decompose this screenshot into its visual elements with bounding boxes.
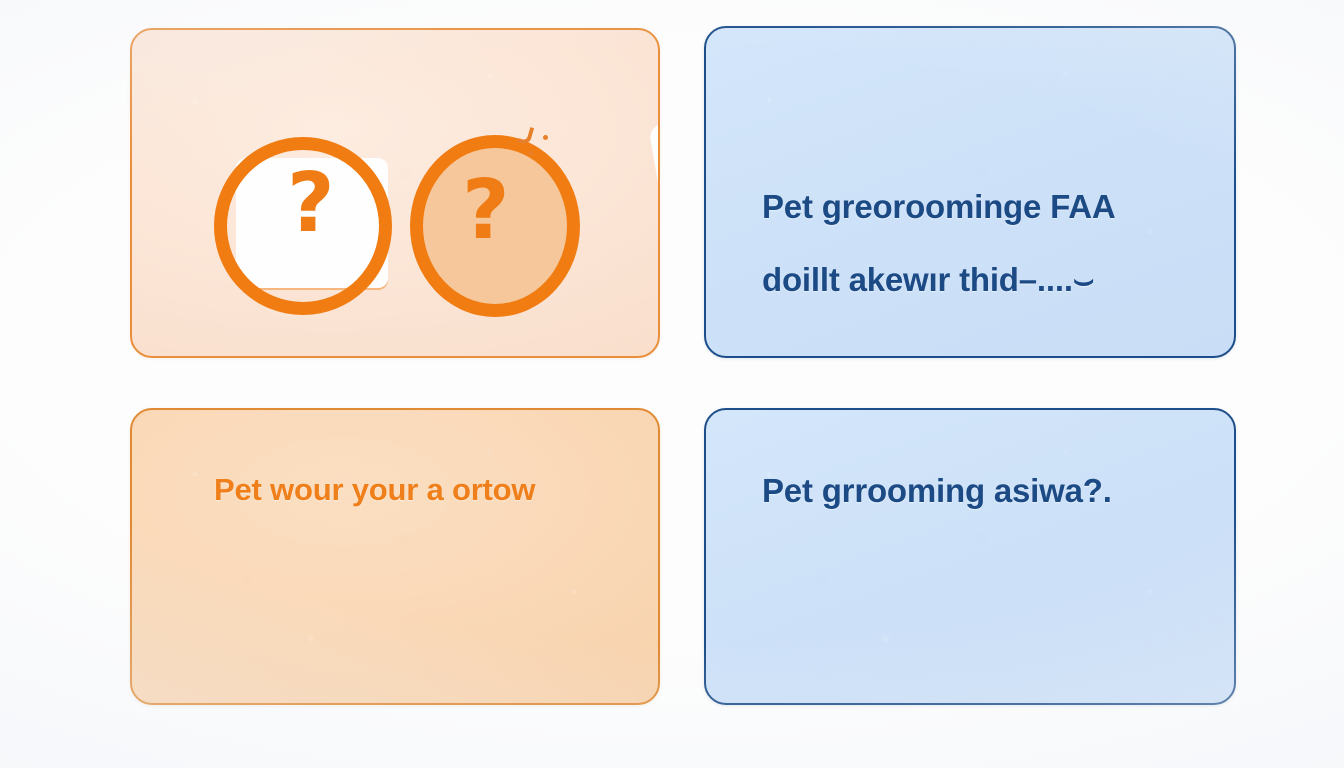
question-mark-glyph-right: ? bbox=[462, 170, 510, 252]
question-text-block: Pet grrooming asiwa?. bbox=[762, 472, 1112, 510]
question-mark-glyph-left: ? bbox=[287, 163, 335, 245]
sparkle-dot-icon bbox=[543, 135, 548, 140]
faq-heading-text-block: Pet greoroominge FAA doillt akewır thid–… bbox=[762, 188, 1116, 300]
faq-heading-line-2: doillt akewır thid–....⌣ bbox=[762, 261, 1116, 300]
faq-heading-line-1: Pet greoroominge FAA bbox=[762, 188, 1116, 226]
question-line: Pet grrooming asiwa?. bbox=[762, 472, 1112, 510]
sparkle-icon bbox=[517, 125, 534, 146]
faq-heading-card[interactable]: Pet greoroominge FAA doillt akewır thid–… bbox=[704, 26, 1236, 358]
sparkle-dot-icon bbox=[529, 151, 533, 155]
faq-illustration: ? ? bbox=[132, 30, 658, 356]
bubble-backdrop-shape bbox=[648, 111, 660, 201]
question-card[interactable]: Pet grrooming asiwa?. bbox=[704, 408, 1236, 705]
subtitle-line: Pet wour your a ortow bbox=[214, 472, 535, 508]
subtitle-text-block: Pet wour your a ortow bbox=[214, 472, 535, 508]
subtitle-card[interactable]: Pet wour your a ortow bbox=[130, 408, 660, 705]
card-board: ? ? Pet greoroominge FAA doillt akewır t… bbox=[0, 0, 1344, 768]
faq-illustration-card[interactable]: ? ? bbox=[130, 28, 660, 358]
